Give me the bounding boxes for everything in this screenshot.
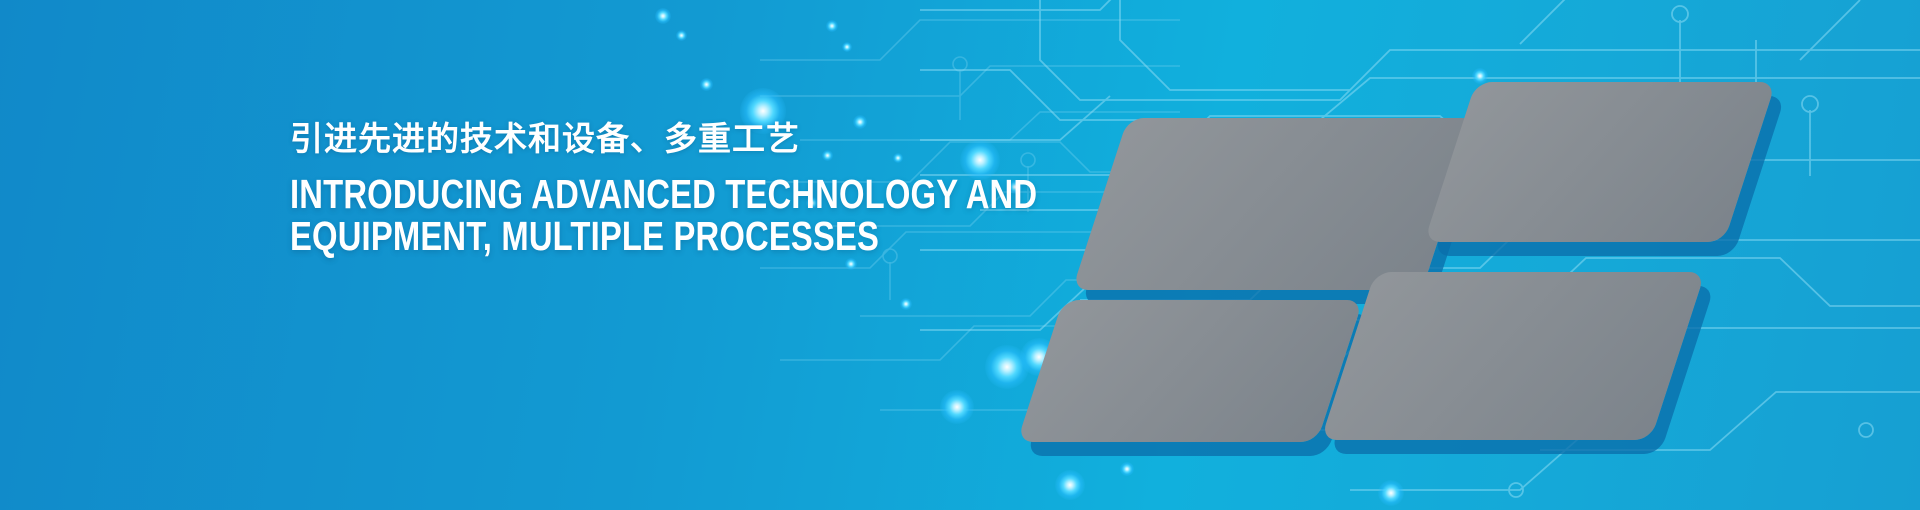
headline-english: INTRODUCING ADVANCED TECHNOLOGY AND EQUI… — [290, 173, 1037, 257]
headline-chinese: 引进先进的技术和设备、多重工艺 — [290, 118, 1224, 159]
photo-assembly-machine-image — [1017, 300, 1363, 442]
photo-office — [1424, 82, 1776, 242]
photo-assembly-machine — [1017, 300, 1363, 442]
photo-operator-precision — [1321, 272, 1706, 440]
promo-banner: 引进先进的技术和设备、多重工艺 INTRODUCING ADVANCED TEC… — [0, 0, 1920, 510]
photo-operator-precision-image — [1321, 272, 1706, 440]
headline-block: 引进先进的技术和设备、多重工艺 INTRODUCING ADVANCED TEC… — [290, 118, 1224, 258]
photo-office-image — [1424, 82, 1776, 242]
headline-english-line-1: INTRODUCING ADVANCED TECHNOLOGY AND — [290, 173, 1037, 215]
headline-english-line-2: EQUIPMENT, MULTIPLE PROCESSES — [290, 215, 1037, 257]
